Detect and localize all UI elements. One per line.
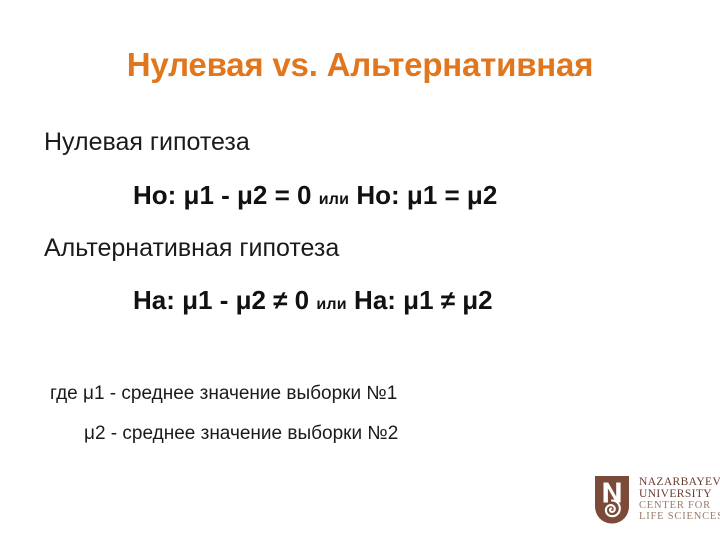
spacer	[44, 155, 690, 182]
page-title: Нулевая vs. Альтернативная	[0, 46, 720, 84]
logo-wordmark: NAZARBAYEV UNIVERSITY CENTER FOR LIFE SC…	[639, 477, 720, 523]
logo-line-life-sciences: LIFE SCIENCES	[639, 512, 720, 523]
spacer	[44, 261, 690, 287]
alt-formula-left: На: μ1 - μ2 ≠ 0	[133, 285, 309, 315]
null-formula-right: Ho: μ1 = μ2	[356, 180, 497, 210]
definitions-block: где μ1 - среднее значение выборки №1 μ2 …	[50, 384, 398, 443]
nazarbayev-university-logo: NAZARBAYEV UNIVERSITY CENTER FOR LIFE SC…	[592, 476, 720, 524]
alt-hypothesis-heading: Альтернативная гипотеза	[44, 236, 690, 261]
alt-formula-conjunction: или	[316, 296, 346, 313]
alt-formula-right: На: μ1 ≠ μ2	[354, 285, 493, 315]
null-hypothesis-formula: Ho: μ1 - μ2 = 0 или Ho: μ1 = μ2	[133, 182, 690, 208]
null-formula-left: Ho: μ1 - μ2 = 0	[133, 180, 311, 210]
definition-mu1: где μ1 - среднее значение выборки №1	[50, 384, 398, 403]
slide-body: Нулевая гипотеза Ho: μ1 - μ2 = 0 или Ho:…	[44, 130, 690, 313]
slide-canvas: Нулевая vs. Альтернативная Нулевая гипот…	[0, 0, 720, 540]
null-formula-conjunction: или	[319, 191, 349, 208]
null-hypothesis-heading: Нулевая гипотеза	[44, 130, 690, 155]
university-shield-icon	[592, 476, 632, 524]
spacer	[44, 208, 690, 236]
definition-mu2: μ2 - среднее значение выборки №2	[84, 424, 398, 443]
alt-hypothesis-formula: На: μ1 - μ2 ≠ 0 или На: μ1 ≠ μ2	[133, 287, 690, 313]
